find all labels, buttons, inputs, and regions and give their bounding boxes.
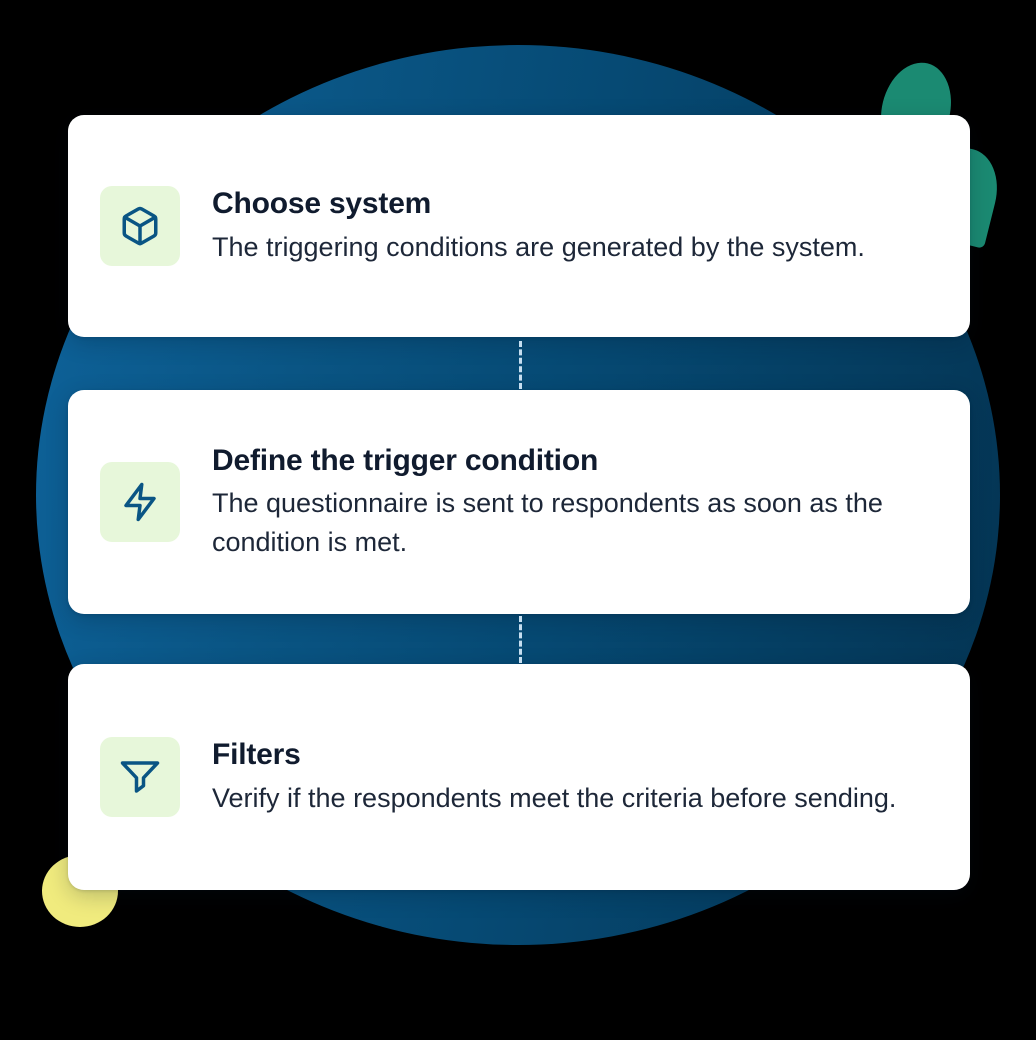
step-content: Choose system The triggering conditions … bbox=[212, 186, 936, 266]
box-icon bbox=[119, 205, 161, 247]
step-content: Filters Verify if the respondents meet t… bbox=[212, 737, 936, 817]
step-description: The questionnaire is sent to respondents… bbox=[212, 484, 936, 561]
step-card[interactable]: Define the trigger condition The questio… bbox=[68, 390, 970, 614]
step-connector-line bbox=[519, 341, 525, 389]
step-title: Define the trigger condition bbox=[212, 443, 936, 478]
step-connector-line bbox=[519, 616, 525, 663]
funnel-filter-icon bbox=[119, 756, 161, 798]
lightning-bolt-icon bbox=[119, 481, 161, 523]
step-title: Filters bbox=[212, 737, 936, 772]
illustration-stage: Choose system The triggering conditions … bbox=[0, 0, 1036, 1040]
step-description: The triggering conditions are generated … bbox=[212, 228, 936, 266]
steps-list: Choose system The triggering conditions … bbox=[0, 0, 1036, 1040]
step-card[interactable]: Choose system The triggering conditions … bbox=[68, 115, 970, 337]
step-icon-tile bbox=[100, 462, 180, 542]
step-icon-tile bbox=[100, 737, 180, 817]
step-description: Verify if the respondents meet the crite… bbox=[212, 779, 936, 817]
step-card[interactable]: Filters Verify if the respondents meet t… bbox=[68, 664, 970, 890]
step-content: Define the trigger condition The questio… bbox=[212, 443, 936, 561]
step-icon-tile bbox=[100, 186, 180, 266]
step-title: Choose system bbox=[212, 186, 936, 221]
